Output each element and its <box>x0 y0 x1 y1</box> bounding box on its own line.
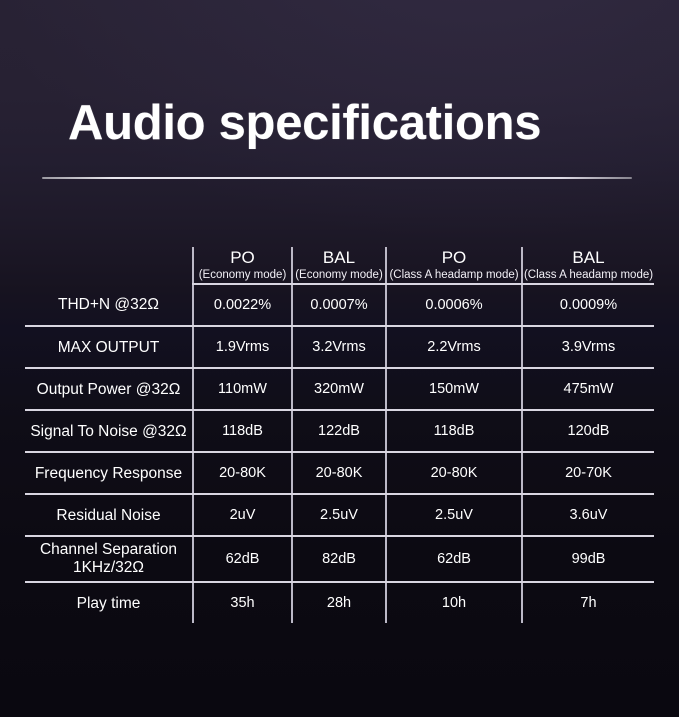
column-header-po-economy: PO (Economy mode) <box>193 247 292 284</box>
page-title: Audio specifications <box>68 92 541 154</box>
cell-value: 99dB <box>522 536 654 582</box>
cell-value: 150mW <box>386 368 522 410</box>
title-divider <box>42 177 632 179</box>
row-label-max-output: MAX OUTPUT <box>25 326 193 368</box>
cell-value: 20-80K <box>386 452 522 494</box>
column-header-subtitle: (Class A headamp mode) <box>387 268 521 283</box>
cell-value: 35h <box>193 582 292 623</box>
column-header-title: PO <box>194 247 291 268</box>
table-header-row: PO (Economy mode) BAL (Economy mode) PO … <box>25 247 654 284</box>
cell-value: 0.0022% <box>193 284 292 326</box>
column-header-row-label <box>25 247 193 284</box>
spec-sheet-page: Audio specifications PO (Economy mode) <box>0 0 679 717</box>
column-header-subtitle: (Economy mode) <box>194 268 291 283</box>
column-header-title: PO <box>387 247 521 268</box>
cell-value: 0.0007% <box>292 284 386 326</box>
cell-value: 0.0006% <box>386 284 522 326</box>
table-row: Channel Separation 1KHz/32Ω 62dB 82dB 62… <box>25 536 654 582</box>
table-row: Signal To Noise @32Ω 118dB 122dB 118dB 1… <box>25 410 654 452</box>
cell-value: 3.2Vrms <box>292 326 386 368</box>
cell-value: 0.0009% <box>522 284 654 326</box>
table-header: PO (Economy mode) BAL (Economy mode) PO … <box>25 247 654 284</box>
cell-value: 118dB <box>386 410 522 452</box>
cell-value: 2uV <box>193 494 292 536</box>
cell-value: 2.2Vrms <box>386 326 522 368</box>
table-body: THD+N @32Ω 0.0022% 0.0007% 0.0006% 0.000… <box>25 284 654 623</box>
cell-value: 3.6uV <box>522 494 654 536</box>
row-label-line-1: Channel Separation <box>25 541 192 559</box>
row-label-line-2: 1KHz/32Ω <box>25 559 192 577</box>
cell-value: 10h <box>386 582 522 623</box>
cell-value: 20-70K <box>522 452 654 494</box>
table-row: Output Power @32Ω 110mW 320mW 150mW 475m… <box>25 368 654 410</box>
row-label-residual-noise: Residual Noise <box>25 494 193 536</box>
row-label-play-time: Play time <box>25 582 193 623</box>
table-row: Residual Noise 2uV 2.5uV 2.5uV 3.6uV <box>25 494 654 536</box>
cell-value: 62dB <box>386 536 522 582</box>
row-label-output-power: Output Power @32Ω <box>25 368 193 410</box>
table-row: THD+N @32Ω 0.0022% 0.0007% 0.0006% 0.000… <box>25 284 654 326</box>
column-header-title: BAL <box>523 247 654 268</box>
cell-value: 3.9Vrms <box>522 326 654 368</box>
table-row: Play time 35h 28h 10h 7h <box>25 582 654 623</box>
cell-value: 7h <box>522 582 654 623</box>
cell-value: 475mW <box>522 368 654 410</box>
cell-value: 28h <box>292 582 386 623</box>
cell-value: 2.5uV <box>386 494 522 536</box>
cell-value: 320mW <box>292 368 386 410</box>
column-header-bal-economy: BAL (Economy mode) <box>292 247 386 284</box>
row-label-frequency-response: Frequency Response <box>25 452 193 494</box>
specifications-table-container: PO (Economy mode) BAL (Economy mode) PO … <box>25 247 654 623</box>
cell-value: 2.5uV <box>292 494 386 536</box>
table-row: MAX OUTPUT 1.9Vrms 3.2Vrms 2.2Vrms 3.9Vr… <box>25 326 654 368</box>
cell-value: 20-80K <box>292 452 386 494</box>
cell-value: 82dB <box>292 536 386 582</box>
column-header-title: BAL <box>293 247 385 268</box>
table-row: Frequency Response 20-80K 20-80K 20-80K … <box>25 452 654 494</box>
row-label-channel-separation: Channel Separation 1KHz/32Ω <box>25 536 193 582</box>
cell-value: 1.9Vrms <box>193 326 292 368</box>
cell-value: 122dB <box>292 410 386 452</box>
specifications-table: PO (Economy mode) BAL (Economy mode) PO … <box>25 247 654 623</box>
cell-value: 110mW <box>193 368 292 410</box>
row-label-signal-to-noise: Signal To Noise @32Ω <box>25 410 193 452</box>
cell-value: 62dB <box>193 536 292 582</box>
cell-value: 120dB <box>522 410 654 452</box>
column-header-subtitle: (Class A headamp mode) <box>523 268 654 283</box>
column-header-po-class-a: PO (Class A headamp mode) <box>386 247 522 284</box>
column-header-bal-class-a: BAL (Class A headamp mode) <box>522 247 654 284</box>
cell-value: 118dB <box>193 410 292 452</box>
cell-value: 20-80K <box>193 452 292 494</box>
column-header-subtitle: (Economy mode) <box>293 268 385 283</box>
row-label-thd-n: THD+N @32Ω <box>25 284 193 326</box>
